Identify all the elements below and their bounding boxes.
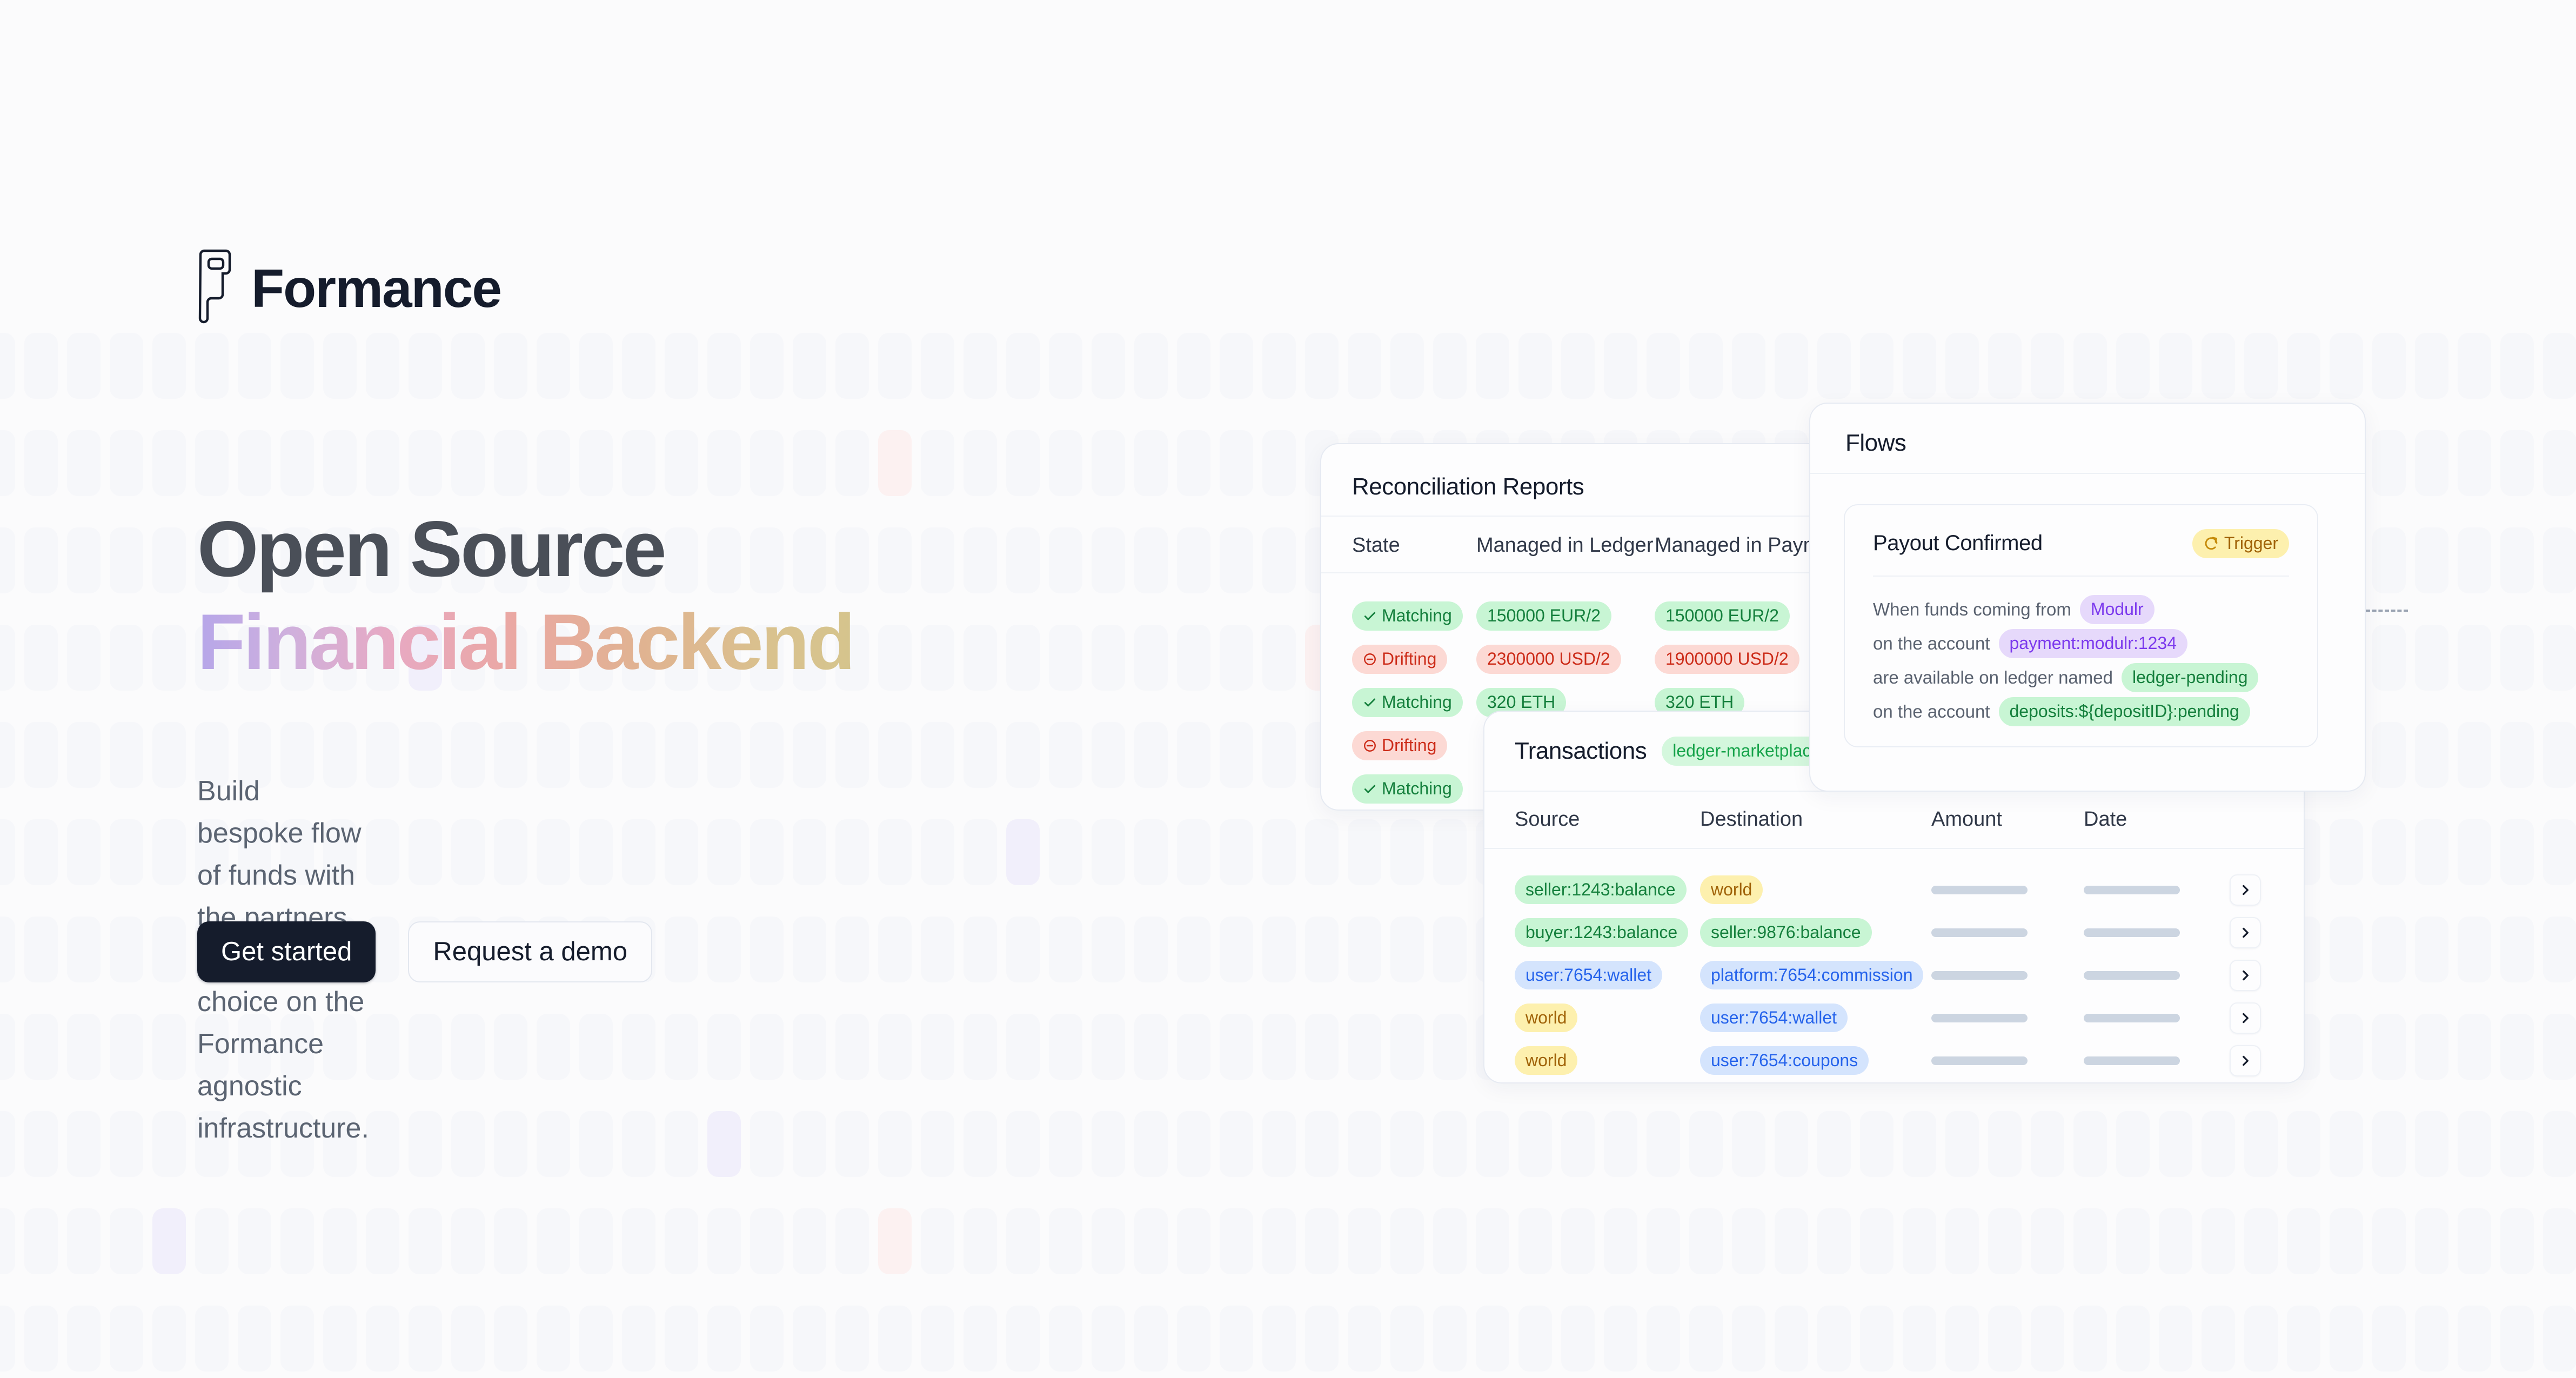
background-pattern-cell — [1220, 527, 1253, 593]
background-pattern-cell — [1092, 333, 1125, 399]
flow-name: Payout Confirmed — [1873, 531, 2043, 556]
background-pattern-cell — [366, 1306, 399, 1372]
background-pattern-cell — [1817, 1306, 1851, 1372]
background-pattern-cell — [2500, 333, 2534, 399]
background-pattern-cell — [2458, 917, 2491, 982]
background-pattern-cell — [2372, 1111, 2406, 1177]
background-pattern-cell — [1262, 1306, 1296, 1372]
background-pattern-cell — [195, 430, 229, 496]
background-pattern-cell — [152, 1014, 186, 1080]
background-pattern-cell — [1860, 1111, 1893, 1177]
background-pattern-cell — [152, 430, 186, 496]
background-pattern-cell — [964, 625, 997, 691]
background-pattern-cell — [451, 819, 485, 885]
background-pattern-cell — [878, 1014, 912, 1080]
payments-amount-badge: 150000 EUR/2 — [1655, 601, 1790, 631]
background-pattern-cell — [750, 430, 784, 496]
background-pattern-cell — [1177, 430, 1210, 496]
state-cell: Drifting — [1352, 731, 1476, 760]
column-header-destination: Destination — [1700, 808, 1931, 831]
background-pattern-cell — [67, 917, 101, 982]
background-pattern-cell — [24, 917, 58, 982]
background-pattern-cell — [1903, 1111, 1936, 1177]
amount-cell — [1931, 1056, 2084, 1065]
background-pattern-cell — [835, 917, 869, 982]
background-pattern-cell — [0, 333, 15, 399]
table-row[interactable]: worlduser:7654:coupons — [1515, 1039, 2277, 1082]
flow-rule-line: are available on ledger namedledger-pend… — [1873, 661, 2289, 695]
background-pattern-cell — [750, 1208, 784, 1274]
ledger-amount-badge-label: 150000 EUR/2 — [1487, 606, 1601, 626]
flow-rule-line: on the accountpayment:modulr:1234 — [1873, 627, 2289, 661]
background-pattern-cell — [750, 819, 784, 885]
trigger-badge[interactable]: Trigger — [2192, 529, 2289, 558]
background-pattern-cell — [2202, 333, 2235, 399]
get-started-button[interactable]: Get started — [197, 921, 376, 982]
background-pattern-cell — [537, 1306, 570, 1372]
background-pattern-cell — [1732, 1306, 1765, 1372]
background-pattern-cell — [2543, 819, 2576, 885]
background-pattern-cell — [24, 1208, 58, 1274]
background-pattern-cell — [1305, 1014, 1339, 1080]
amount-placeholder — [1931, 886, 2028, 894]
source-badge-label: world — [1525, 1008, 1567, 1028]
background-pattern-cell — [1262, 1014, 1296, 1080]
flow-detail-header: Payout Confirmed Trigger — [1845, 505, 2317, 558]
background-pattern-cell — [878, 527, 912, 593]
background-pattern-cell — [2287, 1208, 2320, 1274]
background-pattern-cell — [0, 819, 15, 885]
column-header-date: Date — [2084, 808, 2127, 831]
reconciliation-row[interactable]: Drifting2300000 USD/21900000 USD/2 — [1352, 638, 1799, 681]
background-pattern-cell — [1390, 333, 1424, 399]
check-icon — [1363, 782, 1377, 796]
amount-cell — [1931, 971, 2084, 980]
background-pattern-cell — [1134, 1306, 1168, 1372]
row-expand-button[interactable] — [2230, 1002, 2261, 1034]
background-pattern-cell — [1647, 1111, 1680, 1177]
transactions-rows: seller:1243:balanceworldbuyer:1243:balan… — [1515, 868, 2277, 1082]
background-pattern-cell — [1348, 1111, 1381, 1177]
background-pattern-cell — [1604, 1208, 1637, 1274]
background-pattern-cell — [110, 722, 143, 788]
background-pattern-cell — [1390, 917, 1424, 982]
background-pattern-cell — [835, 722, 869, 788]
background-pattern-cell — [1305, 1208, 1339, 1274]
background-pattern-cell — [2415, 1111, 2448, 1177]
row-expand-button[interactable] — [2230, 917, 2261, 948]
background-pattern-cell — [665, 819, 698, 885]
background-pattern-cell — [2458, 527, 2491, 593]
background-pattern-cell — [2372, 625, 2406, 691]
background-pattern-cell — [878, 1208, 912, 1274]
background-pattern-cell — [2244, 1111, 2278, 1177]
background-pattern-cell — [1134, 819, 1168, 885]
background-pattern-cell — [494, 722, 527, 788]
background-pattern-cell — [2287, 333, 2320, 399]
background-pattern-cell — [0, 430, 15, 496]
brand-logo[interactable]: Formance — [197, 249, 501, 329]
background-pattern-cell — [2543, 333, 2576, 399]
background-pattern-cell — [921, 1014, 954, 1080]
background-pattern-cell — [793, 1208, 826, 1274]
background-pattern-cell — [1988, 333, 2022, 399]
background-pattern-cell — [323, 430, 357, 496]
background-pattern-cell — [494, 1208, 527, 1274]
flow-rule-line: When funds coming fromModulr — [1873, 593, 2289, 627]
background-pattern-cell — [451, 1014, 485, 1080]
source-badge: seller:1243:balance — [1515, 875, 1687, 905]
background-pattern-cell — [2202, 1306, 2235, 1372]
background-pattern-cell — [1049, 333, 1082, 399]
background-pattern-cell — [878, 430, 912, 496]
destination-badge: world — [1700, 875, 1763, 905]
background-pattern-cell — [2415, 1014, 2448, 1080]
background-pattern-cell — [280, 430, 314, 496]
background-pattern-cell — [707, 722, 741, 788]
background-pattern-cell — [1006, 625, 1040, 691]
background-pattern-cell — [1220, 625, 1253, 691]
background-pattern-cell — [2415, 1306, 2448, 1372]
background-pattern-cell — [878, 1111, 912, 1177]
background-pattern-cell — [2159, 333, 2192, 399]
column-header-amount: Amount — [1931, 808, 2084, 831]
background-pattern-cell — [622, 1306, 655, 1372]
managed-in-payments-cell: 1900000 USD/2 — [1655, 645, 1799, 674]
source-cell: seller:1243:balance — [1515, 875, 1700, 905]
source-cell: world — [1515, 1004, 1700, 1033]
divider — [1321, 572, 1859, 573]
background-pattern-cell — [1817, 333, 1851, 399]
amount-placeholder — [1931, 1014, 2028, 1022]
background-pattern-cell — [67, 1306, 101, 1372]
background-pattern-cell — [878, 917, 912, 982]
chevron-right-icon — [2238, 883, 2252, 897]
check-icon — [1363, 695, 1377, 710]
flow-detail-card[interactable]: Payout Confirmed Trigger When funds comi… — [1844, 504, 2318, 747]
background-pattern-cell — [622, 333, 655, 399]
reconciliation-row[interactable]: Matching150000 EUR/2150000 EUR/2 — [1352, 594, 1799, 638]
background-pattern-cell — [366, 1208, 399, 1274]
row-expand-button[interactable] — [2230, 960, 2261, 991]
background-pattern-cell — [1177, 917, 1210, 982]
background-pattern-cell — [1262, 819, 1296, 885]
background-pattern-cell — [921, 430, 954, 496]
chevron-right-icon — [2238, 1054, 2252, 1068]
background-pattern-cell — [878, 722, 912, 788]
background-pattern-cell — [2500, 722, 2534, 788]
background-pattern-cell — [665, 722, 698, 788]
background-pattern-cell — [2458, 819, 2491, 885]
source-cell: user:7654:wallet — [1515, 961, 1700, 990]
background-pattern-cell — [0, 917, 15, 982]
reconciliation-header-row: State Managed in Ledger Managed in Payme… — [1352, 534, 1859, 557]
background-pattern-cell — [1390, 1306, 1424, 1372]
background-pattern-cell — [1945, 1306, 1979, 1372]
ledger-amount-badge: 150000 EUR/2 — [1476, 601, 1611, 631]
background-pattern-cell — [451, 333, 485, 399]
background-pattern-cell — [1220, 1306, 1253, 1372]
background-pattern-cell — [2116, 1208, 2150, 1274]
background-pattern-cell — [835, 1306, 869, 1372]
background-pattern-cell — [494, 1111, 527, 1177]
background-pattern-cell — [2116, 1306, 2150, 1372]
background-pattern-cell — [451, 722, 485, 788]
background-pattern-cell — [1049, 527, 1082, 593]
background-pattern-cell — [67, 819, 101, 885]
background-pattern-cell — [0, 722, 15, 788]
amount-cell — [1931, 886, 2084, 894]
background-pattern-cell — [2116, 1111, 2150, 1177]
background-pattern-cell — [152, 333, 186, 399]
background-pattern-cell — [793, 1306, 826, 1372]
date-placeholder — [2084, 886, 2180, 894]
background-pattern-cell — [2458, 1014, 2491, 1080]
refresh-arrow-icon — [2203, 536, 2219, 552]
background-pattern-cell — [2543, 1208, 2576, 1274]
background-pattern-cell — [24, 1014, 58, 1080]
background-pattern-cell — [1134, 527, 1168, 593]
background-pattern-cell — [1988, 1306, 2022, 1372]
background-pattern-cell — [878, 625, 912, 691]
background-pattern-cell — [1006, 722, 1040, 788]
background-pattern-cell — [152, 527, 186, 593]
background-pattern-cell — [409, 1306, 442, 1372]
background-pattern-cell — [1604, 1306, 1637, 1372]
background-pattern-cell — [409, 722, 442, 788]
flow-rule-badge-label: ledger-pending — [2132, 667, 2248, 688]
chevron-right-icon — [2238, 968, 2252, 982]
date-cell — [2084, 886, 2230, 894]
background-pattern-cell — [2543, 430, 2576, 496]
background-pattern-cell — [2500, 1208, 2534, 1274]
background-pattern-cell — [964, 430, 997, 496]
background-pattern-cell — [1390, 1208, 1424, 1274]
background-pattern-cell — [1220, 1014, 1253, 1080]
background-pattern-cell — [280, 1208, 314, 1274]
source-badge-label: buyer:1243:balance — [1525, 922, 1677, 943]
background-pattern-cell — [622, 722, 655, 788]
destination-cell: user:7654:wallet — [1700, 1004, 1931, 1033]
background-pattern-cell — [2202, 1111, 2235, 1177]
background-pattern-cell — [1134, 1014, 1168, 1080]
table-row[interactable]: worlduser:7654:wallet — [1515, 996, 2277, 1039]
background-pattern-cell — [2543, 1111, 2576, 1177]
background-pattern-cell — [1689, 1306, 1723, 1372]
background-pattern-cell — [2415, 527, 2448, 593]
destination-cell: platform:7654:commission — [1700, 961, 1931, 990]
background-pattern-cell — [2330, 1306, 2363, 1372]
background-pattern-cell — [1561, 333, 1595, 399]
background-pattern-cell — [793, 1111, 826, 1177]
background-pattern-cell — [1518, 1208, 1552, 1274]
background-pattern-cell — [1433, 333, 1467, 399]
row-expand-button[interactable] — [2230, 1045, 2261, 1076]
background-pattern-cell — [1177, 1111, 1210, 1177]
source-badge-label: world — [1525, 1051, 1567, 1071]
background-pattern-cell — [537, 819, 570, 885]
background-pattern-cell — [665, 333, 698, 399]
background-pattern-cell — [67, 333, 101, 399]
table-row[interactable]: buyer:1243:balanceseller:9876:balance — [1515, 911, 2277, 954]
destination-badge-label: platform:7654:commission — [1711, 965, 1912, 986]
minus-circle-icon — [1363, 652, 1377, 666]
background-pattern-cell — [1220, 333, 1253, 399]
background-pattern-cell — [1348, 1208, 1381, 1274]
cta-row: Get started Request a demo — [197, 921, 652, 982]
background-pattern-cell — [280, 1306, 314, 1372]
background-pattern-cell — [1092, 1014, 1125, 1080]
background-pattern-cell — [409, 1014, 442, 1080]
background-pattern-cell — [1049, 430, 1082, 496]
formance-f-logo-icon — [197, 249, 237, 329]
destination-badge-label: user:7654:wallet — [1711, 1008, 1837, 1028]
background-pattern-cell — [110, 819, 143, 885]
background-pattern-cell — [1988, 1208, 2022, 1274]
managed-in-payments-cell: 150000 EUR/2 — [1655, 601, 1790, 631]
background-pattern-cell — [366, 1111, 399, 1177]
background-pattern-cell — [921, 1208, 954, 1274]
background-pattern-cell — [2073, 333, 2107, 399]
background-pattern-cell — [622, 1014, 655, 1080]
background-pattern-cell — [1006, 917, 1040, 982]
background-pattern-cell — [964, 527, 997, 593]
background-pattern-cell — [1049, 1014, 1082, 1080]
background-pattern-cell — [1049, 625, 1082, 691]
source-cell: buyer:1243:balance — [1515, 918, 1700, 947]
background-pattern-cell — [1561, 1306, 1595, 1372]
background-pattern-cell — [152, 917, 186, 982]
date-cell — [2084, 971, 2230, 980]
background-pattern-cell — [707, 1014, 741, 1080]
background-pattern-cell — [24, 1111, 58, 1177]
background-pattern-cell — [1049, 917, 1082, 982]
background-pattern-cell — [1177, 1208, 1210, 1274]
state-badge: Matching — [1352, 774, 1463, 804]
flow-rule-line: on the accountdeposits:${depositID}:pend… — [1873, 695, 2289, 729]
background-pattern-cell — [67, 722, 101, 788]
request-demo-button[interactable]: Request a demo — [408, 921, 652, 982]
background-pattern-cell — [1390, 1014, 1424, 1080]
payments-amount-badge-label: 320 ETH — [1665, 692, 1734, 713]
background-pattern-cell — [1177, 527, 1210, 593]
managed-in-ledger-cell: 2300000 USD/2 — [1476, 645, 1655, 674]
source-badge-label: seller:1243:balance — [1525, 880, 1676, 900]
background-pattern-cell — [537, 1208, 570, 1274]
table-row[interactable]: user:7654:walletplatform:7654:commission — [1515, 954, 2277, 996]
background-pattern-cell — [1945, 1111, 1979, 1177]
background-pattern-cell — [2543, 1014, 2576, 1080]
column-header-state: State — [1352, 534, 1476, 557]
background-pattern-cell — [1433, 1111, 1467, 1177]
background-pattern-cell — [2287, 1306, 2320, 1372]
background-pattern-cell — [1476, 333, 1509, 399]
date-placeholder — [2084, 928, 2180, 937]
background-pattern-cell — [2330, 1111, 2363, 1177]
background-pattern-cell — [409, 1111, 442, 1177]
background-pattern-cell — [964, 722, 997, 788]
background-pattern-cell — [0, 1208, 15, 1274]
background-pattern-cell — [921, 1306, 954, 1372]
flow-rule-badge: payment:modulr:1234 — [1999, 629, 2188, 658]
state-cell: Drifting — [1352, 645, 1476, 674]
column-header-managed-in-ledger: Managed in Ledger — [1476, 534, 1655, 557]
background-pattern-cell — [579, 1306, 613, 1372]
background-pattern-cell — [1134, 722, 1168, 788]
table-row[interactable]: seller:1243:balanceworld — [1515, 868, 2277, 911]
destination-cell: user:7654:coupons — [1700, 1046, 1931, 1075]
background-pattern-cell — [835, 1014, 869, 1080]
amount-placeholder — [1931, 971, 2028, 980]
flow-rule-text: When funds coming from — [1873, 599, 2071, 620]
background-pattern-cell — [1262, 527, 1296, 593]
background-pattern-cell — [1092, 917, 1125, 982]
background-pattern-cell — [964, 1014, 997, 1080]
background-pattern-cell — [2244, 1306, 2278, 1372]
flow-rule-lines: When funds coming fromModulron the accou… — [1845, 577, 2317, 729]
background-pattern-cell — [494, 819, 527, 885]
background-pattern-cell — [2372, 1208, 2406, 1274]
state-badge-label: Matching — [1382, 692, 1452, 713]
background-pattern-cell — [2159, 1306, 2192, 1372]
background-pattern-cell — [2031, 1111, 2064, 1177]
flow-rule-badge-label: deposits:${depositID}:pending — [2010, 701, 2239, 722]
row-expand-button[interactable] — [2230, 874, 2261, 906]
background-pattern-cell — [579, 1111, 613, 1177]
state-badge: Drifting — [1352, 645, 1447, 674]
destination-cell: world — [1700, 875, 1931, 905]
background-pattern-cell — [835, 430, 869, 496]
background-pattern-cell — [1092, 1306, 1125, 1372]
flow-rule-badge-label: payment:modulr:1234 — [2010, 633, 2177, 654]
background-pattern-cell — [1433, 1014, 1467, 1080]
background-pattern-cell — [0, 1014, 15, 1080]
background-pattern-cell — [1092, 819, 1125, 885]
background-pattern-cell — [921, 333, 954, 399]
background-pattern-cell — [1945, 1208, 1979, 1274]
flow-connector-line — [2366, 610, 2408, 612]
background-pattern-cell — [152, 1208, 186, 1274]
source-badge: user:7654:wallet — [1515, 961, 1662, 990]
ledger-amount-badge-label: 320 ETH — [1487, 692, 1555, 713]
background-pattern-cell — [494, 430, 527, 496]
background-pattern-cell — [67, 1208, 101, 1274]
background-pattern-cell — [921, 722, 954, 788]
background-pattern-cell — [1305, 917, 1339, 982]
background-pattern-cell — [451, 1111, 485, 1177]
background-pattern-cell — [24, 625, 58, 691]
background-pattern-cell — [1262, 1111, 1296, 1177]
payments-amount-badge-label: 150000 EUR/2 — [1665, 606, 1779, 626]
background-pattern-cell — [878, 819, 912, 885]
background-pattern-cell — [2500, 1111, 2534, 1177]
background-pattern-cell — [451, 1208, 485, 1274]
background-pattern-cell — [1220, 1208, 1253, 1274]
background-pattern-cell — [409, 333, 442, 399]
background-pattern-cell — [1134, 625, 1168, 691]
background-pattern-cell — [707, 917, 741, 982]
flow-rule-badge: ledger-pending — [2122, 663, 2259, 692]
brand-name: Formance — [251, 262, 501, 316]
background-pattern-cell — [152, 722, 186, 788]
reconciliation-title: Reconciliation Reports — [1352, 473, 1584, 500]
background-pattern-cell — [537, 430, 570, 496]
source-badge: world — [1515, 1004, 1577, 1033]
source-badge-label: user:7654:wallet — [1525, 965, 1651, 986]
background-pattern-cell — [2500, 819, 2534, 885]
destination-cell: seller:9876:balance — [1700, 918, 1931, 947]
background-pattern-cell — [1262, 917, 1296, 982]
